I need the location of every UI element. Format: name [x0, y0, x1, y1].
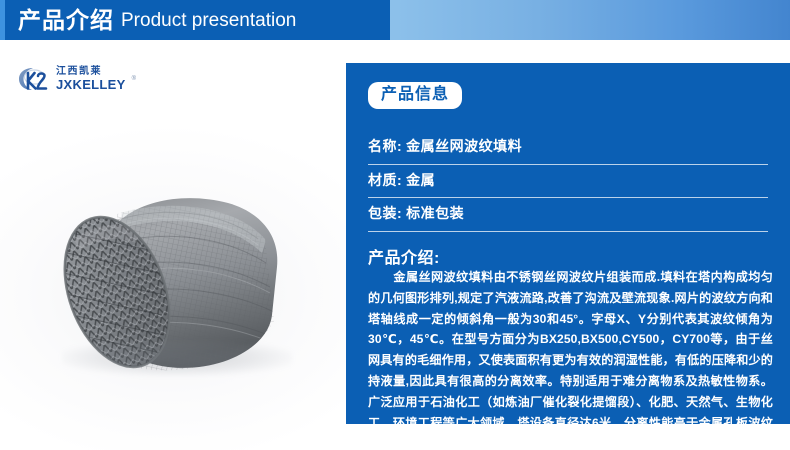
logo-wordmark: 江西凯莱 JXKELLEY	[56, 67, 126, 91]
page-title-en: Product presentation	[121, 11, 296, 30]
brand-logo: 江西凯莱 JXKELLEY ®	[18, 66, 136, 92]
header-title-group: 产品介绍 Product presentation	[18, 0, 296, 40]
description-title: 产品介绍:	[368, 244, 440, 268]
logo-brand-cn: 江西凯莱	[56, 67, 126, 77]
spec-label-name: 名称:	[368, 137, 402, 157]
product-info-badge: 产品信息	[368, 82, 462, 109]
spec-list: 名称: 金属丝网波纹填料 材质: 金属 包装: 标准包装	[368, 131, 768, 232]
logo-brand-en: JXKELLEY	[56, 78, 126, 91]
spec-row-name: 名称: 金属丝网波纹填料	[368, 131, 768, 165]
spec-label-material: 材质:	[368, 171, 402, 191]
spec-label-packaging: 包装:	[368, 204, 402, 224]
product-info-panel: 产品信息 名称: 金属丝网波纹填料 材质: 金属 包装: 标准包装 产品介绍: …	[346, 63, 790, 424]
logo-k2-icon	[18, 66, 52, 92]
spec-value-packaging: 标准包装	[406, 204, 464, 224]
product-shadow	[62, 340, 292, 376]
page-header: 产品介绍 Product presentation	[0, 0, 790, 40]
registered-mark-icon: ®	[132, 76, 136, 82]
spec-value-name: 金属丝网波纹填料	[406, 137, 522, 157]
product-presentation-page: 产品介绍 Product presentation 江西凯莱	[0, 0, 790, 450]
spec-row-material: 材质: 金属	[368, 165, 768, 199]
page-title-cn: 产品介绍	[18, 9, 114, 32]
description-body: 金属丝网波纹填料由不锈钢丝网波纹片组装而成.填料在塔内构成均匀的几何图形排列,规…	[368, 267, 773, 424]
header-accent-stripe	[0, 0, 5, 40]
spec-row-packaging: 包装: 标准包装	[368, 198, 768, 232]
product-image	[22, 135, 322, 405]
spec-value-material: 金属	[406, 171, 435, 191]
product-photo-area: 江西凯莱 JXKELLEY ®	[0, 40, 350, 450]
